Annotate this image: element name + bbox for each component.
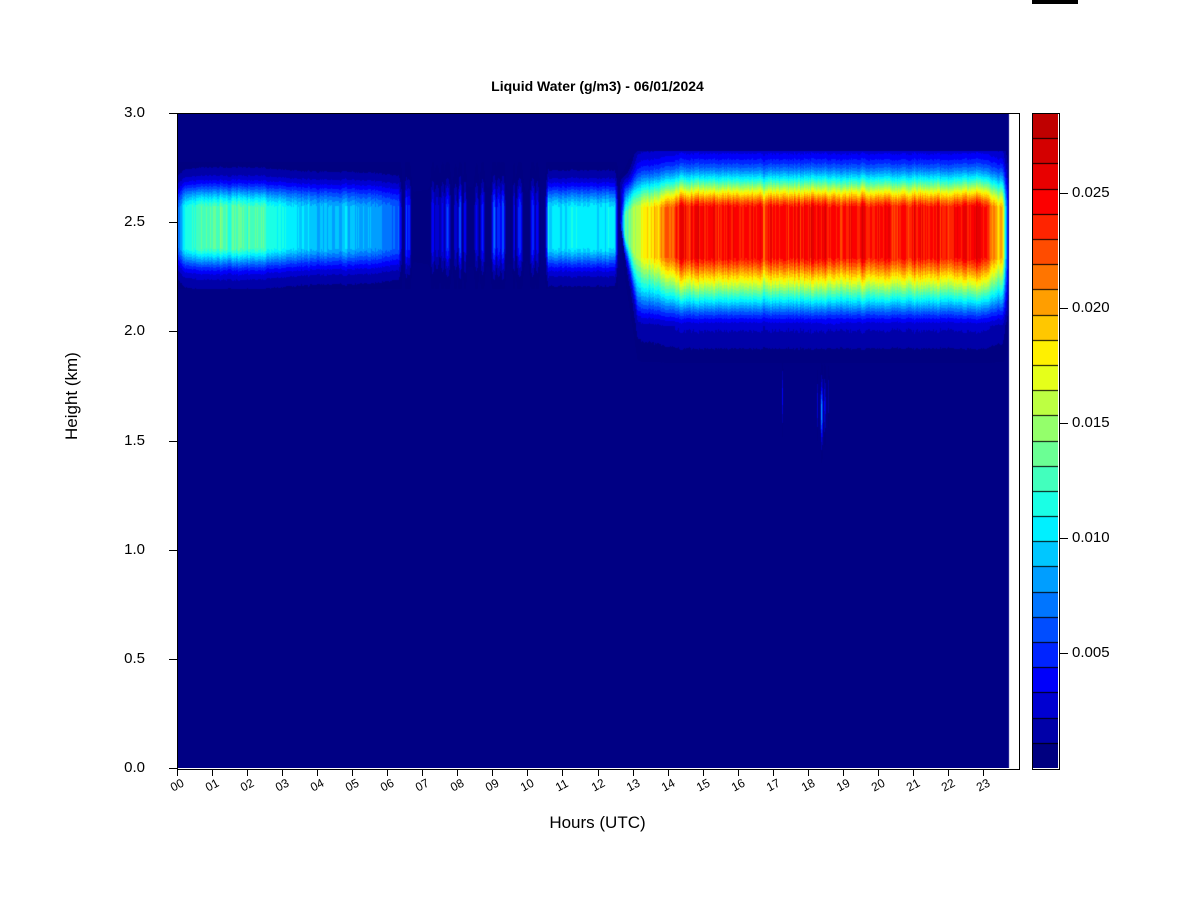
colorbar-tick-label: 0.020 bbox=[1072, 299, 1110, 316]
x-tick-label: 06 bbox=[378, 776, 396, 795]
x-tick-mark bbox=[773, 769, 774, 776]
x-tick-mark bbox=[387, 769, 388, 776]
x-tick-mark bbox=[668, 769, 669, 776]
colorbar-tick-label: 0.025 bbox=[1072, 184, 1110, 201]
colorbar-tick-mark bbox=[1059, 193, 1068, 194]
x-tick-label: 17 bbox=[764, 776, 782, 795]
colorbar-tick-label: 0.005 bbox=[1072, 644, 1110, 661]
top-edge-artifact bbox=[1032, 0, 1078, 4]
x-tick-mark bbox=[948, 769, 949, 776]
x-tick-mark bbox=[738, 769, 739, 776]
x-tick-label: 07 bbox=[413, 776, 431, 795]
x-tick-mark bbox=[177, 769, 178, 776]
x-tick-label: 15 bbox=[694, 776, 712, 795]
x-tick-label: 16 bbox=[729, 776, 747, 795]
x-tick-mark bbox=[317, 769, 318, 776]
x-tick-label: 14 bbox=[659, 776, 677, 795]
x-tick-label: 19 bbox=[834, 776, 852, 795]
y-tick-label: 1.0 bbox=[0, 541, 159, 558]
x-tick-label: 08 bbox=[448, 776, 466, 795]
x-tick-mark bbox=[703, 769, 704, 776]
x-tick-mark bbox=[598, 769, 599, 776]
x-axis-label: Hours (UTC) bbox=[177, 813, 1018, 833]
x-tick-label: 05 bbox=[343, 776, 361, 795]
x-tick-label: 01 bbox=[203, 776, 221, 795]
colorbar-tick-mark bbox=[1059, 653, 1068, 654]
colorbar-tick-mark bbox=[1059, 538, 1068, 539]
x-tick-mark bbox=[878, 769, 879, 776]
y-tick-mark bbox=[169, 550, 177, 551]
x-tick-label: 21 bbox=[904, 776, 922, 795]
x-tick-mark bbox=[808, 769, 809, 776]
x-tick-label: 22 bbox=[939, 776, 957, 795]
x-tick-label: 10 bbox=[518, 776, 536, 795]
x-tick-mark bbox=[633, 769, 634, 776]
page-title: Liquid Water (g/m3) - 06/01/2024 bbox=[177, 78, 1018, 94]
y-tick-label: 2.0 bbox=[0, 322, 159, 339]
x-tick-label: 23 bbox=[974, 776, 992, 795]
colorbar-tick-label: 0.010 bbox=[1072, 529, 1110, 546]
x-tick-mark bbox=[913, 769, 914, 776]
x-tick-label: 12 bbox=[589, 776, 607, 795]
x-tick-mark bbox=[527, 769, 528, 776]
y-tick-mark bbox=[169, 222, 177, 223]
y-tick-mark bbox=[169, 331, 177, 332]
y-tick-label: 3.0 bbox=[0, 104, 159, 121]
y-tick-label: 0.5 bbox=[0, 650, 159, 667]
y-tick-label: 2.5 bbox=[0, 213, 159, 230]
x-tick-mark bbox=[352, 769, 353, 776]
heatmap-plot-area bbox=[177, 113, 1018, 768]
x-tick-label: 03 bbox=[273, 776, 291, 795]
x-tick-label: 18 bbox=[799, 776, 817, 795]
x-tick-mark bbox=[282, 769, 283, 776]
x-tick-label: 00 bbox=[168, 776, 186, 795]
x-tick-mark bbox=[843, 769, 844, 776]
colorbar-tick-mark bbox=[1059, 308, 1068, 309]
figure-canvas: Liquid Water (g/m3) - 06/01/2024 0.00.51… bbox=[0, 0, 1200, 900]
colorbar bbox=[1032, 113, 1058, 768]
colorbar-tick-label: 0.015 bbox=[1072, 414, 1110, 431]
x-tick-label: 02 bbox=[238, 776, 256, 795]
y-tick-mark bbox=[169, 441, 177, 442]
colorbar-tick-mark bbox=[1059, 423, 1068, 424]
x-tick-label: 04 bbox=[308, 776, 326, 795]
x-tick-mark bbox=[212, 769, 213, 776]
x-tick-mark bbox=[492, 769, 493, 776]
y-tick-mark bbox=[169, 768, 177, 769]
x-tick-mark bbox=[562, 769, 563, 776]
x-tick-label: 11 bbox=[553, 776, 571, 794]
y-tick-mark bbox=[169, 659, 177, 660]
x-tick-mark bbox=[422, 769, 423, 776]
x-tick-mark bbox=[983, 769, 984, 776]
x-tick-mark bbox=[247, 769, 248, 776]
x-tick-label: 13 bbox=[624, 776, 642, 795]
x-tick-mark bbox=[457, 769, 458, 776]
y-tick-mark bbox=[169, 113, 177, 114]
y-tick-label: 0.0 bbox=[0, 759, 159, 776]
x-tick-label: 09 bbox=[483, 776, 501, 795]
y-axis-label: Height (km) bbox=[62, 352, 82, 440]
x-tick-label: 20 bbox=[869, 776, 887, 795]
